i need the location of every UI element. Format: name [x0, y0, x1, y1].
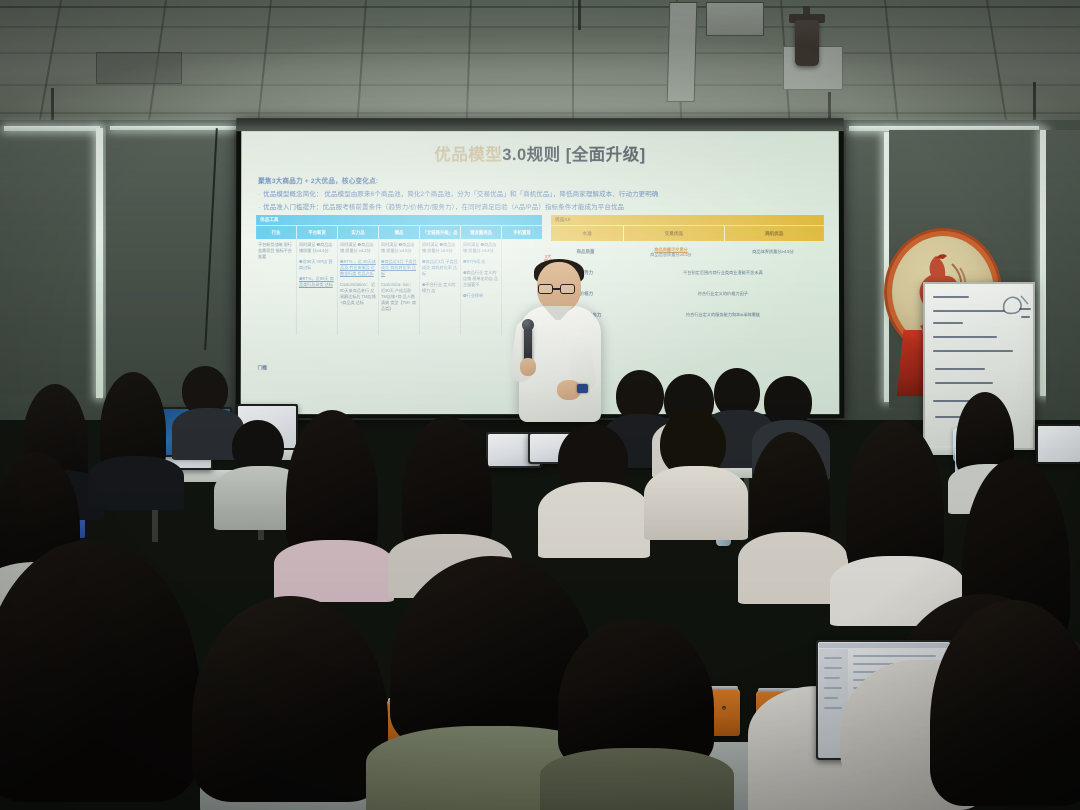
- attendee-shoulders: [540, 748, 734, 810]
- screen-valance: [236, 118, 843, 131]
- left-col-2: 同时满足 ❶商品店铺 质量分 ≥4.2分 ❷RT% ，近 90天成品及 竹艺来服…: [338, 239, 379, 335]
- roller-blind-right-3: [1046, 130, 1080, 406]
- left-cell-1-2: ❷RT% ，近 90天成品及 竹艺来服及 近数全行类 优品占折: [340, 259, 376, 277]
- wristwatch-icon: [577, 384, 588, 393]
- attendee: [100, 372, 170, 492]
- attendee-shoulders: [644, 466, 748, 540]
- eyeglasses-icon: [538, 284, 553, 294]
- eyeglass-bridge: [553, 288, 560, 290]
- monitor-screen: [1038, 426, 1080, 462]
- left-col-1: 同时满足 ❶商品店铺质量 分≥4.4分 ❷近90天 VIP店 营商过标 ❸RT%…: [297, 239, 338, 335]
- right-th-1: 交易优品: [624, 226, 724, 242]
- slide-bullet-1-text: 优品模型概念简化： 优品模型由原来6个商品池，简化2个商品池，分为「交易优品」和…: [263, 191, 658, 198]
- attendee-hair: [930, 600, 1080, 806]
- slide-lead-text: 聚焦3大商品力 + 2大优品，核心变化点:: [258, 175, 378, 185]
- roller-blind-left: [0, 126, 102, 394]
- attendee-shoulders: [538, 482, 650, 558]
- left-cell-0-3: 同时满足 ❶商品店铺 质量分 ≥4.5分: [381, 242, 417, 254]
- window-light-edge: [96, 128, 103, 398]
- right-th-0: 水准: [551, 226, 624, 242]
- right-table-header-row: 水准 交易优品 商机优品: [551, 225, 824, 242]
- attendee: [652, 410, 738, 576]
- left-cell-2-5: ❸商品行业 定义的店铺 榜单化的店 品主留要不: [463, 270, 499, 288]
- attendee-hair: [750, 432, 830, 548]
- left-cell-3-5: ❹行业榜单: [463, 293, 499, 299]
- left-col-0: 平台新货战略 银行金鼎项目 指标平台准要: [256, 239, 297, 335]
- left-cell-2-1: ❸RT%，近90天 商品类行及录类 达标: [299, 276, 335, 288]
- left-th-5: 潜流量商品: [461, 226, 502, 239]
- right-table-caption: 优品3.0: [551, 215, 824, 225]
- right-row-3-col1: 符合行业定义的服务能力和3bu半纯需链: [622, 312, 824, 317]
- slide-title-soft: 优品模型: [434, 146, 502, 164]
- attendee: [750, 432, 836, 598]
- attendee-foreground: [558, 618, 718, 810]
- left-col-5: 同时满足 ❶商品店铺 质量分 ≥4.2分 ❷RT持续 店 ❸商品行业 定义的店铺…: [461, 239, 502, 335]
- right-row-0-label: 商品质量: [551, 249, 620, 255]
- attendee-hair: [402, 416, 492, 552]
- left-th-6: 手机置首: [502, 226, 542, 239]
- left-table-caption: 优品工具: [256, 215, 542, 225]
- left-cell-1-1: ❷近90天 VIP店 营商过标: [299, 259, 335, 271]
- microphone-head-icon: [522, 319, 534, 331]
- right-table-row: 商品质量 商品质量可交易分 商品信息质量分≥4.5分 商品体界质量分≥4.5分: [551, 241, 824, 262]
- presenter: [505, 262, 615, 442]
- left-th-2: 实力品: [338, 226, 379, 239]
- attendee: [846, 420, 950, 616]
- attendee-hair: [192, 596, 388, 802]
- conference-room-scene: 优品模型3.0规则 [全面升级] 聚焦3大商品力 + 2大优品，核心变化点: ·…: [0, 0, 1080, 810]
- left-table-body: 平台新货战略 银行金鼎项目 指标平台准要 同时满足 ❶商品店铺质量 分≥4.4分…: [256, 239, 542, 335]
- whiteboard-doodle-icon: [1001, 292, 1031, 318]
- right-th-2: 商机优品: [725, 226, 824, 242]
- attendee-shoulders: [88, 456, 184, 510]
- right-row-2-col1: 符合行业定义的价格力因子: [622, 291, 824, 296]
- left-table-side-label: 门槛: [258, 365, 267, 371]
- left-table: 优品工具 行业 平台新货 实力品 爆品 「全链路升级」品 潜流量商品 手机置首 …: [256, 215, 542, 335]
- attendee-hair: [0, 540, 200, 802]
- attendee: [224, 420, 294, 530]
- left-cell-0-2: 同时满足 ❶商品店铺 质量分 ≥4.2分: [340, 242, 376, 254]
- left-col-4: 同时满足 ❶商品店铺 质量分 ≥4.5分 ❷商品近3月 子类目成交 商机转化率 …: [420, 239, 461, 335]
- left-table-header-row: 行业 平台新货 实力品 爆品 「全链路升级」品 潜流量商品 手机置首: [256, 225, 542, 239]
- right-row-0-col1-text: 商品信息质量分≥4.5分: [650, 252, 692, 257]
- attendee-hair: [558, 618, 714, 768]
- slide-bullet-2-text: 优品准入门槛提升：优品服考核前置条件（趋势力/价格力/服务力），在同时满足后验（…: [263, 204, 624, 211]
- left-cell-2-3: Customiza- tion：近90天 产成品款 TM店铺+商 品人数清爽 类…: [381, 282, 417, 312]
- left-col-3: 同时满足 ❶商品店铺 质量分 ≥4.5分 ❷商品近3月 子类目成交 商机转化率 …: [379, 239, 420, 335]
- left-th-4: 「全链路升级」品: [420, 226, 461, 239]
- attendee-hair: [286, 410, 378, 558]
- attendee-hair: [846, 420, 944, 576]
- left-cell-2-2: Customization： 近90天来商品来行 交易额达标后 TM店铺+商品类…: [340, 282, 376, 306]
- slide-title: 优品模型3.0规则 [全面升级]: [241, 141, 839, 165]
- window-light-edge: [4, 126, 100, 131]
- slide-bullet-2: ·优品准入门槛提升：优品服考核前置条件（趋势力/价格力/服务力），在同时满足后验…: [258, 201, 624, 211]
- slide-bullet-1: ·优品模型概念简化： 优品模型由原来6个商品池，简化2个商品池，分为「交易优品」…: [258, 188, 658, 198]
- attendee-foreground: [0, 540, 210, 810]
- drop-ceiling: [0, 0, 1080, 128]
- right-row-0-col2: 商品体界质量分≥4.5分: [722, 249, 824, 254]
- presenter-left-hand: [520, 358, 536, 376]
- left-th-1: 平台新货: [297, 226, 338, 239]
- eyeglasses-icon: [560, 284, 575, 294]
- left-cell-0-0: 平台新货战略 银行金鼎项目 指标平台准要: [258, 242, 294, 260]
- left-th-0: 行业: [256, 226, 297, 239]
- right-row-0-col1: 商品质量可交易分 商品信息质量分≥4.5分: [620, 247, 722, 257]
- left-cell-0-5: 同时满足 ❶商品店铺 质量分 ≥4.2分: [463, 242, 499, 254]
- attendee: [286, 410, 384, 594]
- left-cell-2-4: ❸平台行业 定义的榜力 店: [422, 282, 458, 294]
- left-cell-1-4: ❷商品近3月 子类目成交 商机转化率 达标: [422, 259, 458, 277]
- attendee-shoulders: [274, 540, 394, 602]
- chair-rivet: [722, 706, 726, 710]
- right-row-1-col1: 平台割定范围内商行业类商业潜能不含未满: [622, 270, 824, 275]
- left-cell-0-1: 同时满足 ❶商品店铺质量 分≥4.4分: [299, 242, 335, 254]
- attendee-foreground: [930, 600, 1080, 810]
- roller-blind-right: [846, 128, 886, 404]
- slide-title-dark: 3.0规则 [全面升级]: [502, 146, 645, 164]
- left-cell-0-4: 同时满足 ❶商品店铺 质量分 ≥4.5分: [422, 242, 458, 254]
- attendee-foreground: [192, 596, 392, 810]
- left-cell-1-3: ❷商品近3月 子类目成交 商机转化率 达标: [381, 259, 417, 277]
- left-th-3: 爆品: [379, 226, 420, 239]
